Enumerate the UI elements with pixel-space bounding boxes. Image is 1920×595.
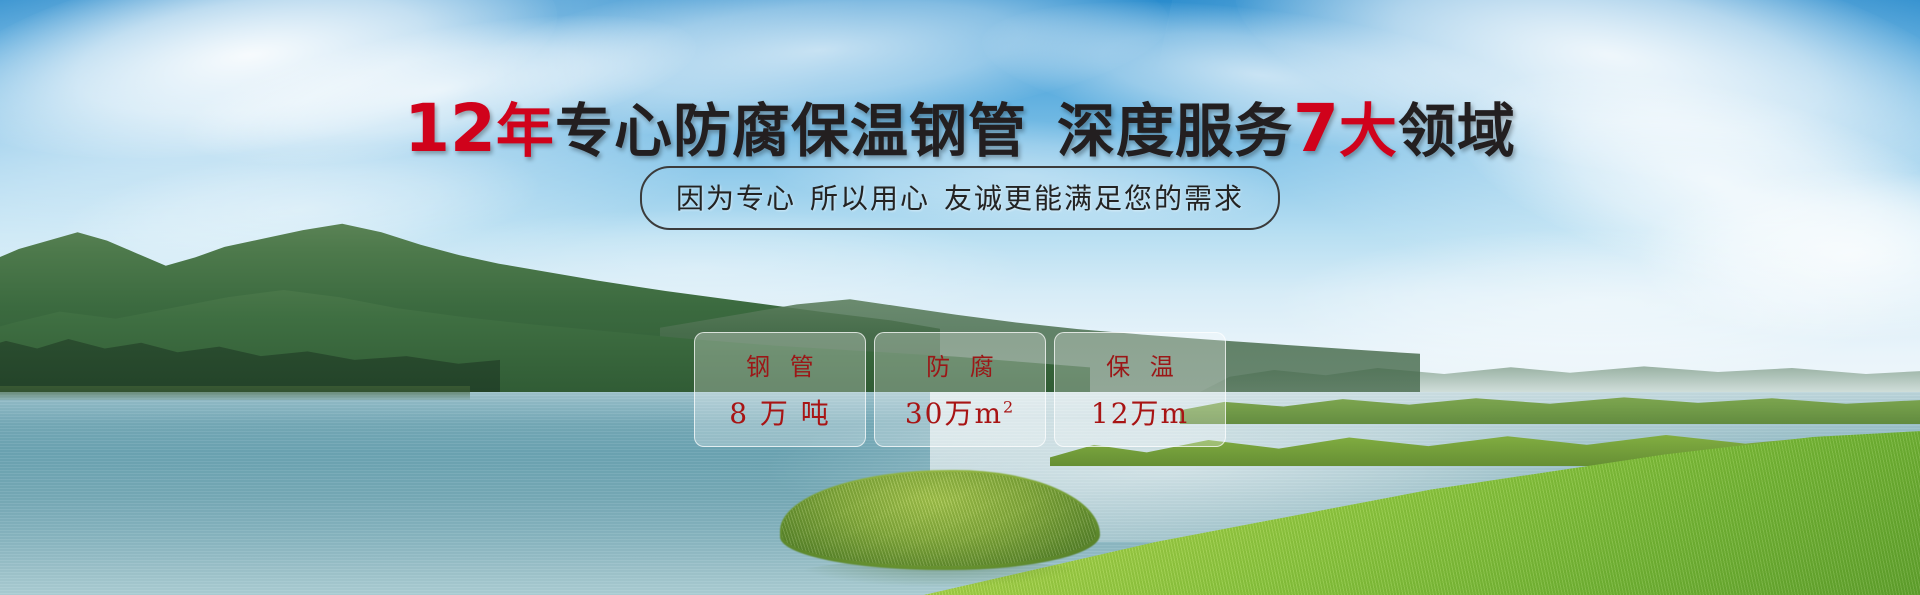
- far-shoreline: [0, 386, 470, 400]
- stat-card-label: 防 腐: [920, 347, 1000, 382]
- stat-card-value: 8 万 吨: [729, 392, 831, 432]
- banner-headline: 12年专心防腐保温钢管深度服务7大领域: [0, 84, 1920, 168]
- headline-years-unit: 年: [496, 97, 555, 165]
- headline-fields-number: 7: [1293, 90, 1339, 167]
- stat-card-value-text: 8 万 吨: [729, 397, 831, 430]
- stat-card[interactable]: 防 腐 30万m2: [874, 332, 1046, 447]
- stat-card-value-text: 12万m: [1091, 397, 1189, 430]
- stat-card-value-sup: 2: [1003, 398, 1015, 417]
- stat-card-value: 30万m2: [905, 392, 1015, 432]
- stat-card-value-text: 30万m: [905, 397, 1003, 430]
- headline-fields-text: 领域: [1398, 97, 1516, 165]
- subtitle-pill: 因为专心所以用心友诚更能满足您的需求: [640, 166, 1280, 230]
- headline-main-text: 专心防腐保温钢管: [555, 97, 1027, 165]
- stat-card-label: 钢 管: [740, 347, 820, 382]
- subtitle-part-3: 友诚更能满足您的需求: [944, 182, 1244, 215]
- headline-years-number: 12: [404, 90, 496, 167]
- hero-banner: 12年专心防腐保温钢管深度服务7大领域 因为专心所以用心友诚更能满足您的需求 钢…: [0, 0, 1920, 595]
- stat-card-label: 保 温: [1100, 347, 1180, 382]
- subtitle-part-1: 因为专心: [676, 182, 796, 215]
- headline-fields-unit: 大: [1339, 97, 1398, 165]
- headline-service-text: 深度服务: [1057, 97, 1293, 165]
- stat-card-group: 钢 管 8 万 吨 防 腐 30万m2 保 温 12万m: [694, 332, 1226, 447]
- stat-card[interactable]: 保 温 12万m: [1054, 332, 1226, 447]
- stat-card[interactable]: 钢 管 8 万 吨: [694, 332, 866, 447]
- stat-card-value: 12万m: [1091, 392, 1189, 432]
- subtitle-part-2: 所以用心: [810, 182, 930, 215]
